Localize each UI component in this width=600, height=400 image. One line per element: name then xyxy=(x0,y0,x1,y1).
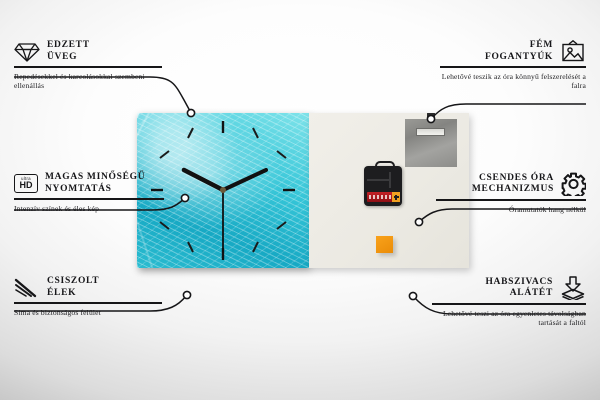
hanger-hook xyxy=(427,113,435,119)
callout-description: Lehetővé teszi az óra egyenletes távolsá… xyxy=(432,309,586,328)
title-line-2: ÉLEK xyxy=(47,288,99,300)
divider xyxy=(432,303,586,305)
divider xyxy=(14,66,162,68)
diamond-icon xyxy=(14,41,40,63)
callout-title: EDZETT ÜVEG xyxy=(47,40,90,63)
divider xyxy=(440,66,586,68)
picture-hanger-icon xyxy=(560,40,586,63)
divider xyxy=(436,199,586,201)
callout-description: Intenzív színek és éles kép xyxy=(14,204,164,214)
callout-tempered-glass: EDZETT ÜVEG Repedésekkel és karcolásokka… xyxy=(14,40,162,91)
metal-hanger-plate xyxy=(405,119,457,167)
title-line-2: MECHANIZMUS xyxy=(472,184,554,196)
title-line-2: FOGANTYÚK xyxy=(485,52,553,64)
hanger-slot xyxy=(416,128,445,136)
callout-description: Lehetővé teszik az óra könnyű felszerelé… xyxy=(440,72,586,91)
callout-title: FÉM FOGANTYÚK xyxy=(485,40,553,63)
clock-mechanism xyxy=(364,166,402,206)
mechanism-handle xyxy=(375,161,395,170)
mechanism-ridge xyxy=(367,179,389,181)
divider xyxy=(14,198,164,200)
badge-large-text: HD xyxy=(20,181,33,191)
callout-silent-mechanism: CSENDES ÓRA MECHANIZMUS Óramutatók hang … xyxy=(436,172,586,214)
callout-foam-pad: HABSZIVACS ALÁTÉT Lehetővé teszi az óra … xyxy=(432,276,586,328)
battery xyxy=(367,192,400,202)
battery-label xyxy=(369,195,391,199)
foam-pad-arrow-icon xyxy=(560,276,586,300)
title-line-1: HABSZIVACS xyxy=(485,277,553,287)
callout-polished-edges: CSISZOLT ÉLEK Sima és biztonságos felüle… xyxy=(14,276,162,317)
battery-plus-terminal xyxy=(392,192,400,202)
title-line-1: EDZETT xyxy=(47,40,90,50)
title-line-1: CSISZOLT xyxy=(47,276,99,286)
connector-dot-foam xyxy=(409,292,416,299)
title-line-1: MAGAS MINŐSÉGŰ xyxy=(45,172,145,182)
title-line-1: CSENDES ÓRA xyxy=(479,173,554,183)
callout-title: CSENDES ÓRA MECHANIZMUS xyxy=(472,173,554,196)
ultra-hd-badge-icon: ultra HD xyxy=(14,174,38,193)
callout-title: CSISZOLT ÉLEK xyxy=(47,276,99,299)
title-line-1: FÉM xyxy=(530,40,553,50)
divider xyxy=(14,302,162,304)
connector-dot-edges xyxy=(183,291,190,298)
mechanism-ridge-vertical xyxy=(389,172,391,188)
title-line-2: ÜVEG xyxy=(47,52,90,64)
callout-high-quality-print: ultra HD MAGAS MINŐSÉGŰ NYOMTATÁS Intenz… xyxy=(14,172,164,213)
gear-icon xyxy=(561,172,586,196)
title-line-2: ALÁTÉT xyxy=(485,288,553,300)
callout-title: MAGAS MINŐSÉGŰ NYOMTATÁS xyxy=(45,172,145,195)
callout-description: Sima és biztonságos felület xyxy=(14,308,162,318)
foam-pad xyxy=(376,236,393,253)
callout-title: HABSZIVACS ALÁTÉT xyxy=(485,277,553,300)
callout-description: Repedésekkel és karcolásokkal szembeni e… xyxy=(14,72,162,91)
infographic-stage: EDZETT ÜVEG Repedésekkel és karcolásokka… xyxy=(0,0,600,400)
polished-edges-icon xyxy=(14,277,40,299)
callout-metal-handles: FÉM FOGANTYÚK Lehetővé teszik az óra kön… xyxy=(440,40,586,91)
callout-description: Óramutatók hang nélkül xyxy=(436,205,586,215)
title-line-2: NYOMTATÁS xyxy=(45,184,145,196)
